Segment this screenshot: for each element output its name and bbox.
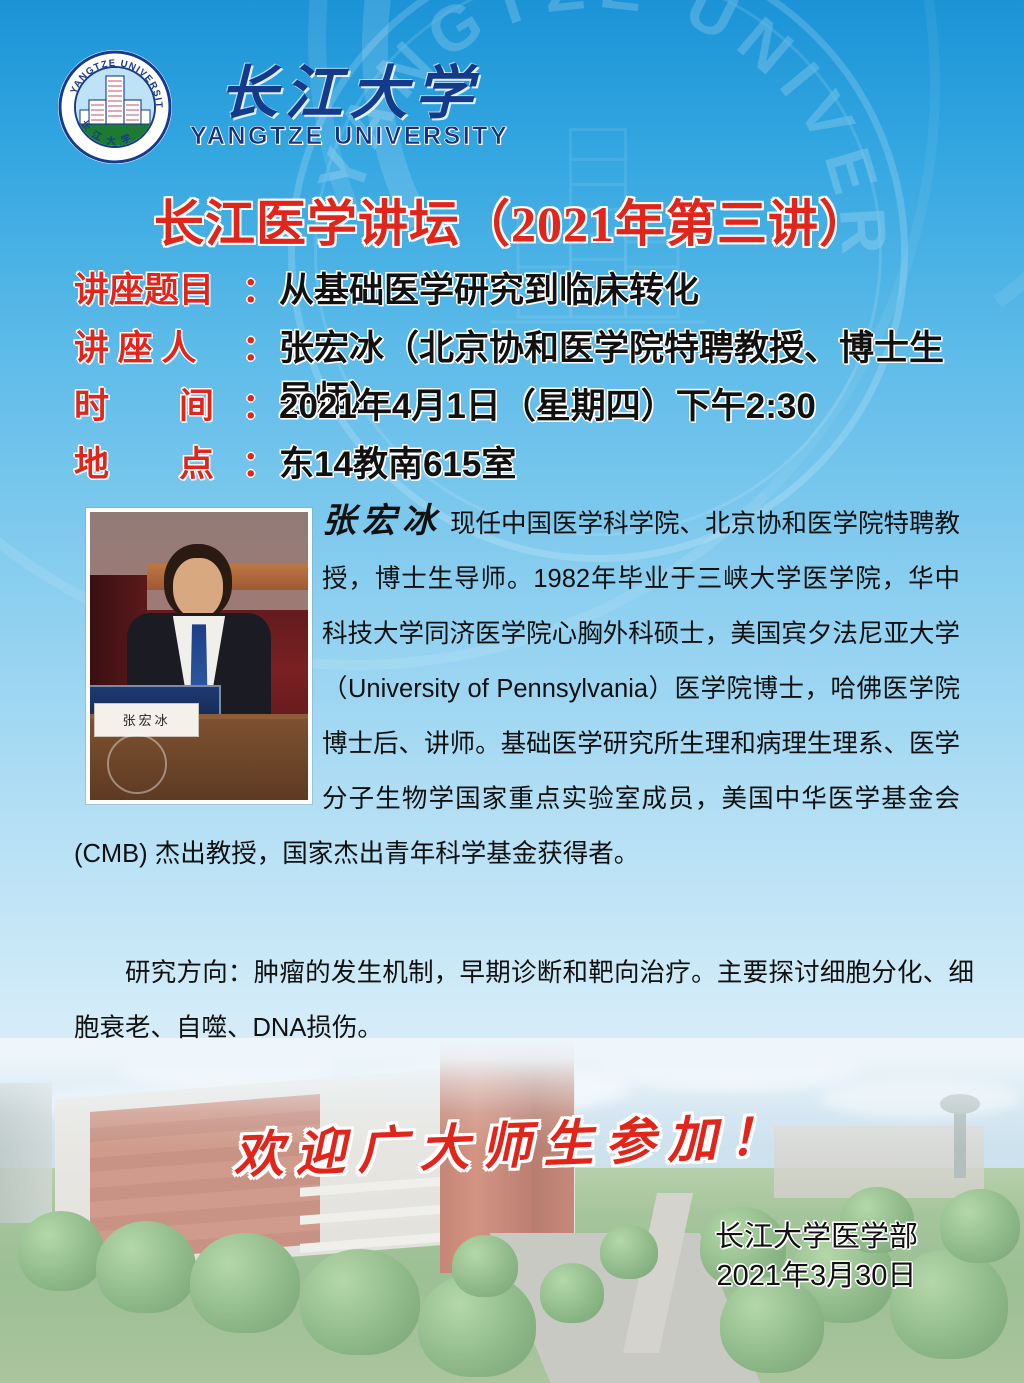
page-title: 长江医学讲坛（2021年第三讲） bbox=[0, 184, 1024, 256]
lecture-speaker-row: 讲 座 人 ： 张宏冰（北京协和医学院特聘教授、博士生导师） bbox=[74, 320, 974, 372]
speaker-name: 张宏冰 bbox=[322, 503, 442, 540]
lecture-speaker-colon: ： bbox=[242, 320, 277, 371]
footer-organization: 长江大学医学部 bbox=[715, 1218, 918, 1257]
speaker-bio: 张宏冰现任中国医学科学院、北京协和医学院特聘教授，博士生导师。1982年毕业于三… bbox=[74, 494, 960, 882]
research-direction-paragraph: 研究方向：肿瘤的发生机制，早期诊断和靶向治疗。主要探讨细胞分化、细胞衰老、自噬、… bbox=[74, 946, 974, 1056]
lecture-topic-label: 讲座题目 bbox=[74, 262, 242, 313]
lecture-info-block: 讲座题目 ： 从基础医学研究到临床转化 讲 座 人 ： 张宏冰（北京协和医学院特… bbox=[74, 262, 974, 494]
poster-footer: 长江大学医学部 2021年3月30日 bbox=[715, 1218, 918, 1296]
poster-root: YANGTZE UNIVERSITY bbox=[0, 0, 1024, 1383]
lecture-topic-row: 讲座题目 ： 从基础医学研究到临床转化 bbox=[74, 262, 974, 314]
lecture-venue-row: 地 点 ： 东14教南615室 bbox=[74, 436, 974, 488]
yangtze-university-seal-icon: YANGTZE UNIVERSITY 长江大学 bbox=[56, 48, 174, 166]
lecture-time-value: 2021年4月1日（星期四）下午2:30 bbox=[279, 378, 816, 429]
poster-header: YANGTZE UNIVERSITY 长江大学 长江大学 YANGTZE UNI… bbox=[56, 48, 509, 166]
lecture-speaker-label: 讲 座 人 bbox=[74, 320, 242, 371]
campus-building-photo bbox=[0, 1038, 1024, 1383]
lecture-topic-value: 从基础医学研究到临床转化 bbox=[279, 262, 699, 313]
lecture-time-label: 时 间 bbox=[74, 378, 242, 429]
lecture-time-colon: ： bbox=[242, 378, 277, 429]
brand-lockup: 长江大学 YANGTZE UNIVERSITY bbox=[190, 65, 509, 149]
lecture-venue-colon: ： bbox=[242, 436, 277, 487]
lecture-venue-value: 东14教南615室 bbox=[279, 436, 516, 487]
lecture-topic-colon: ： bbox=[242, 262, 277, 313]
footer-date: 2021年3月30日 bbox=[715, 1257, 918, 1296]
brand-name-cn: 长江大学 bbox=[220, 65, 480, 123]
brand-name-en: YANGTZE UNIVERSITY bbox=[190, 124, 509, 149]
lecture-venue-label: 地 点 bbox=[74, 436, 242, 487]
